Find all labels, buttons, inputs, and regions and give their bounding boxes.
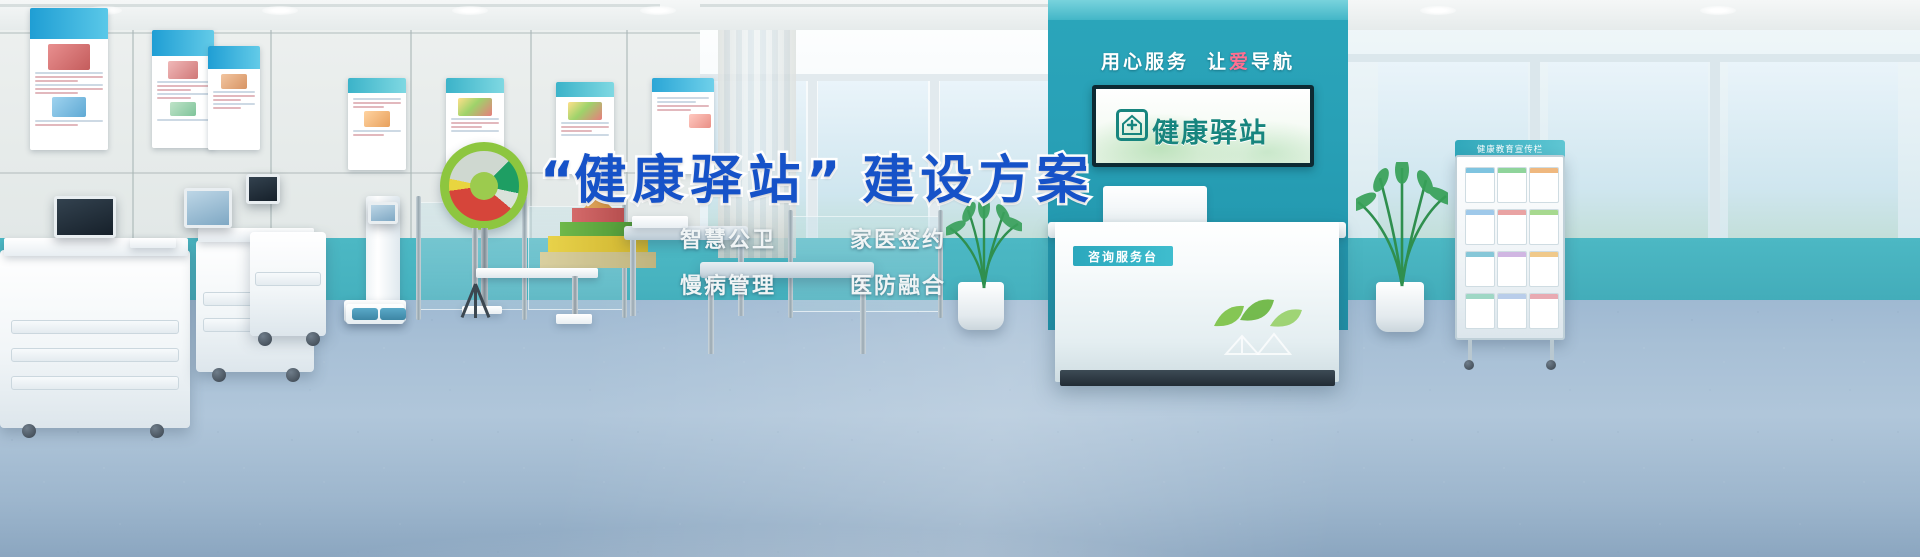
title-quote-open: “ xyxy=(540,151,574,211)
slogan-pre: 让 xyxy=(1207,51,1229,73)
tripod-pole xyxy=(472,228,478,288)
potted-palm-right-icon xyxy=(1356,162,1448,292)
sheer-curtain xyxy=(718,0,796,258)
medical-cart-left xyxy=(0,250,190,428)
brochure-rack-title: 健康教育宣传栏 xyxy=(1477,143,1544,155)
poster-health-1 xyxy=(30,8,108,150)
kiosk-monitor-1 xyxy=(54,196,116,238)
reception-slogan: 用心服务 让爱导航 xyxy=(1080,45,1316,75)
pyramid-foot xyxy=(556,314,592,324)
keyboard-tray xyxy=(130,238,176,248)
slogan-accent: 爱 xyxy=(1229,51,1251,73)
feature-list: 智慧公卫 家医签约 慢病管理 医防融合 xyxy=(680,222,980,300)
feature-item-3: 医防融合 xyxy=(850,268,980,300)
health-cross-house-icon xyxy=(1116,109,1148,141)
page-title: “健康驿站”建设方案 xyxy=(540,152,1300,210)
green-leaves-icon xyxy=(1196,286,1316,362)
title-suffix: 建设方案 xyxy=(862,151,1094,211)
medical-cart-right xyxy=(250,232,326,336)
analyzer-screen xyxy=(368,202,398,224)
slogan-post: 导航 xyxy=(1251,51,1295,73)
kiosk-monitor-2 xyxy=(184,188,232,228)
scene-banner: 用心服务 让爱导航 健康驿站 咨询服务台 xyxy=(0,0,1920,557)
brochure-rack xyxy=(1455,155,1565,340)
slogan-part2: 让爱导航 xyxy=(1207,47,1295,74)
poster-health-3 xyxy=(208,46,260,150)
pyramid-stand xyxy=(476,268,598,278)
poster-health-2 xyxy=(152,30,214,148)
poster-nutrition-1 xyxy=(348,78,406,170)
feature-item-1: 家医签约 xyxy=(850,222,980,254)
desk-base xyxy=(1060,370,1335,386)
kiosk-monitor-3 xyxy=(246,174,280,204)
wheel-base xyxy=(462,306,502,314)
slogan-part1: 用心服务 xyxy=(1101,47,1189,74)
reception-topband xyxy=(1048,0,1348,20)
title-brand: 健康驿站 xyxy=(574,151,806,211)
desk-label: 咨询服务台 xyxy=(1073,246,1173,266)
led-title: 健康驿站 xyxy=(1152,111,1268,150)
feature-item-0: 智慧公卫 xyxy=(680,222,850,254)
feature-item-2: 慢病管理 xyxy=(680,268,850,300)
desk-label-text: 咨询服务台 xyxy=(1088,248,1158,265)
title-quote-close: ” xyxy=(806,151,840,211)
